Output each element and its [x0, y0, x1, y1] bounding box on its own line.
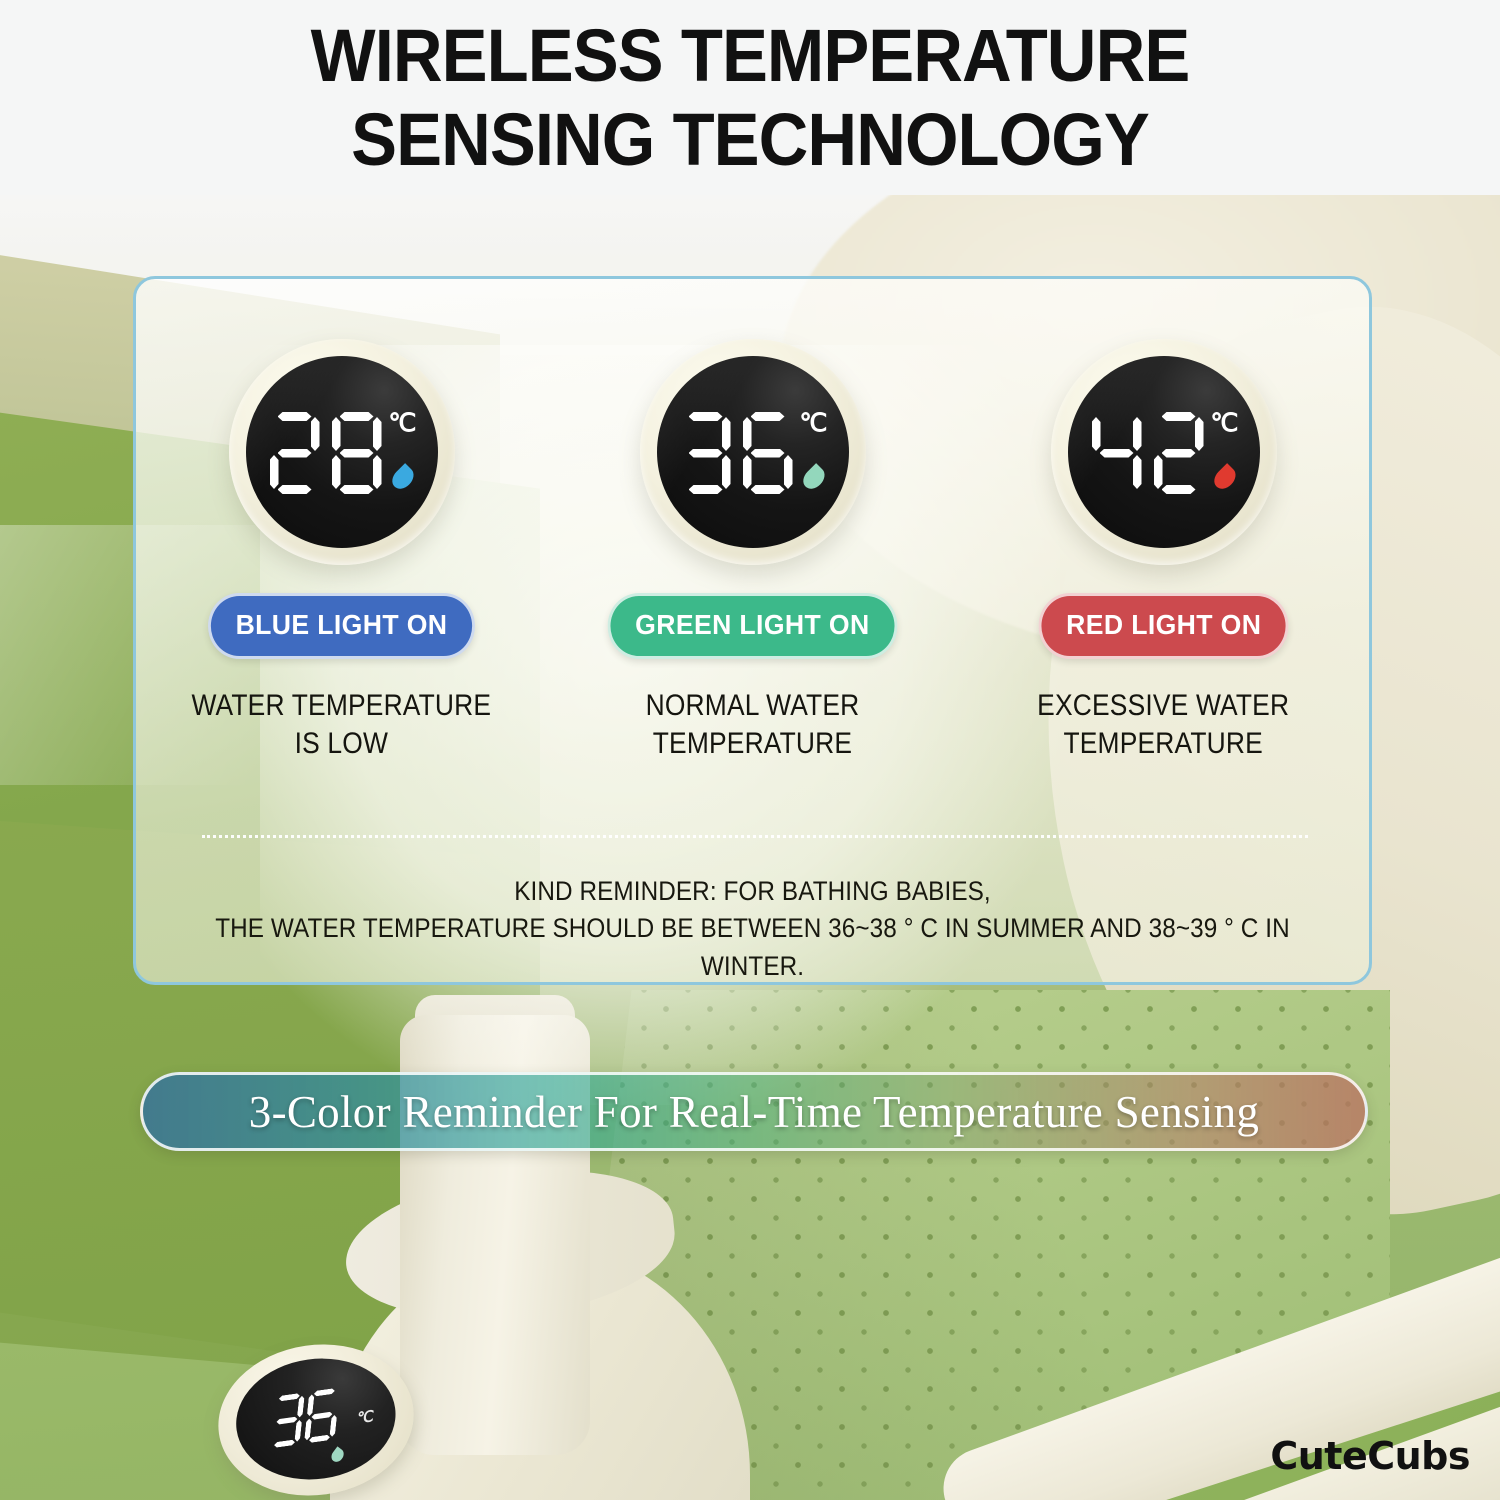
lcd-segment-a: [314, 1388, 335, 1397]
reminder-line-1: KIND REMINDER: FOR BATHING BABIES,: [198, 873, 1308, 910]
lcd-segment-g: [340, 449, 374, 458]
lcd-segment-e: [270, 455, 279, 489]
celsius-unit: ℃: [388, 408, 415, 438]
lcd-segment-a: [278, 412, 312, 421]
lcd-segment-g: [278, 449, 312, 458]
thermometer-screen: ℃: [246, 356, 438, 548]
lcd-segment-g: [276, 1416, 297, 1425]
lcd-digits: [270, 412, 382, 494]
celsius-unit: ℃: [799, 408, 826, 438]
thermometer-device: ℃: [640, 339, 866, 565]
lcd-digit: [269, 1392, 305, 1448]
status-badge-green: GREEN LIGHT ON: [608, 593, 897, 659]
lcd-segment-g: [1100, 449, 1134, 458]
thermometer-readout: ℃: [657, 356, 849, 548]
lcd-segment-f: [1092, 417, 1101, 451]
lcd-segment-c: [294, 1420, 302, 1442]
lcd-segment-g: [1162, 449, 1196, 458]
lcd-segment-d: [751, 485, 785, 494]
lcd-segment-g: [311, 1411, 332, 1420]
caption-line-1: NORMAL WATER: [646, 687, 860, 725]
lcd-segment-d: [274, 1439, 295, 1448]
lcd-digit: [332, 412, 382, 494]
lcd-segment-b: [1195, 417, 1204, 451]
title-line-2: SENSING TECHNOLOGY: [53, 98, 1448, 182]
thermometer-screen: ℃: [657, 356, 849, 548]
thermometer-device: ℃: [229, 339, 455, 565]
lcd-digit: [681, 412, 731, 494]
lcd-segment-f: [743, 417, 752, 451]
lcd-segment-d: [340, 485, 374, 494]
lcd-segment-f: [307, 1394, 315, 1416]
caption-line-1: EXCESSIVE WATER: [1037, 687, 1289, 725]
lcd-segment-c: [329, 1415, 337, 1437]
lcd-segment-a: [340, 412, 374, 421]
lcd-digit: [743, 412, 793, 494]
lcd-segment-a: [751, 412, 785, 421]
thermometer-readout: ℃: [1068, 356, 1260, 548]
water-droplet-icon: [1210, 463, 1240, 493]
feature-banner-text: 3-Color Reminder For Real-Time Temperatu…: [249, 1086, 1259, 1138]
brand-watermark: CuteCubs: [1270, 1434, 1470, 1478]
lcd-segment-b: [311, 417, 320, 451]
lcd-digit: [304, 1387, 340, 1443]
infographic-canvas: WIRELESS TEMPERATURE SENSING TECHNOLOGY …: [0, 0, 1500, 1500]
lcd-digit: [1092, 412, 1142, 494]
lcd-segment-e: [1154, 455, 1163, 489]
lcd-segment-b: [373, 417, 382, 451]
lcd-digit: [1154, 412, 1204, 494]
status-badge-red: RED LIGHT ON: [1038, 593, 1288, 659]
lcd-segment-b: [722, 417, 731, 451]
water-droplet-icon: [329, 1446, 346, 1464]
lcd-segment-d: [1162, 485, 1196, 494]
lcd-segment-e: [332, 455, 341, 489]
lcd-segment-d: [278, 485, 312, 494]
panel-divider: [202, 835, 1308, 838]
lcd-segment-a: [689, 412, 723, 421]
lcd-segment-c: [784, 455, 793, 489]
caption-line-2: TEMPERATURE: [1037, 725, 1289, 763]
lcd-segment-d: [689, 485, 723, 494]
lcd-segment-g: [751, 449, 785, 458]
caption-line-1: WATER TEMPERATURE: [192, 687, 492, 725]
lcd-segment-c: [373, 455, 382, 489]
lcd-segment-c: [1133, 455, 1142, 489]
thermometer-device: ℃: [1051, 339, 1277, 565]
caption-line-2: IS LOW: [192, 725, 492, 763]
lcd-segment-b: [1133, 417, 1142, 451]
lcd-digits: [1092, 412, 1204, 494]
lcd-digit: [270, 412, 320, 494]
kind-reminder-note: KIND REMINDER: FOR BATHING BABIES, THE W…: [198, 873, 1308, 985]
feature-banner: 3-Color Reminder For Real-Time Temperatu…: [140, 1072, 1368, 1151]
status-badge-blue: BLUE LIGHT ON: [208, 593, 475, 659]
lcd-segment-f: [332, 417, 341, 451]
celsius-unit: ℃: [356, 1407, 375, 1428]
caption-line-2: TEMPERATURE: [646, 725, 860, 763]
lcd-digits: [269, 1387, 340, 1448]
state-caption-red: EXCESSIVE WATER TEMPERATURE: [1037, 687, 1289, 763]
thermometer-screen: ℃: [1068, 356, 1260, 548]
reminder-line-2: THE WATER TEMPERATURE SHOULD BE BETWEEN …: [198, 910, 1308, 985]
page-title: WIRELESS TEMPERATURE SENSING TECHNOLOGY: [53, 14, 1448, 181]
lcd-segment-g: [689, 449, 723, 458]
celsius-unit: ℃: [1210, 408, 1237, 438]
lcd-segment-c: [722, 455, 731, 489]
temperature-info-panel: ℃ BLUE LIGHT ON WATER TEMPERATURE IS LOW: [133, 276, 1372, 985]
thermometer-readout: ℃: [246, 356, 438, 548]
lcd-segment-e: [743, 455, 752, 489]
product-thermometer-screen: ℃: [228, 1348, 403, 1489]
water-droplet-icon: [799, 463, 829, 493]
title-line-1: WIRELESS TEMPERATURE: [311, 14, 1190, 97]
state-caption-blue: WATER TEMPERATURE IS LOW: [192, 687, 492, 763]
lcd-segment-a: [279, 1393, 300, 1402]
lcd-segment-b: [297, 1395, 305, 1417]
lcd-segment-e: [304, 1418, 312, 1440]
state-caption-green: NORMAL WATER TEMPERATURE: [646, 687, 860, 763]
lcd-digits: [681, 412, 793, 494]
lcd-segment-d: [309, 1434, 330, 1443]
lcd-segment-a: [1162, 412, 1196, 421]
water-droplet-icon: [388, 463, 418, 493]
